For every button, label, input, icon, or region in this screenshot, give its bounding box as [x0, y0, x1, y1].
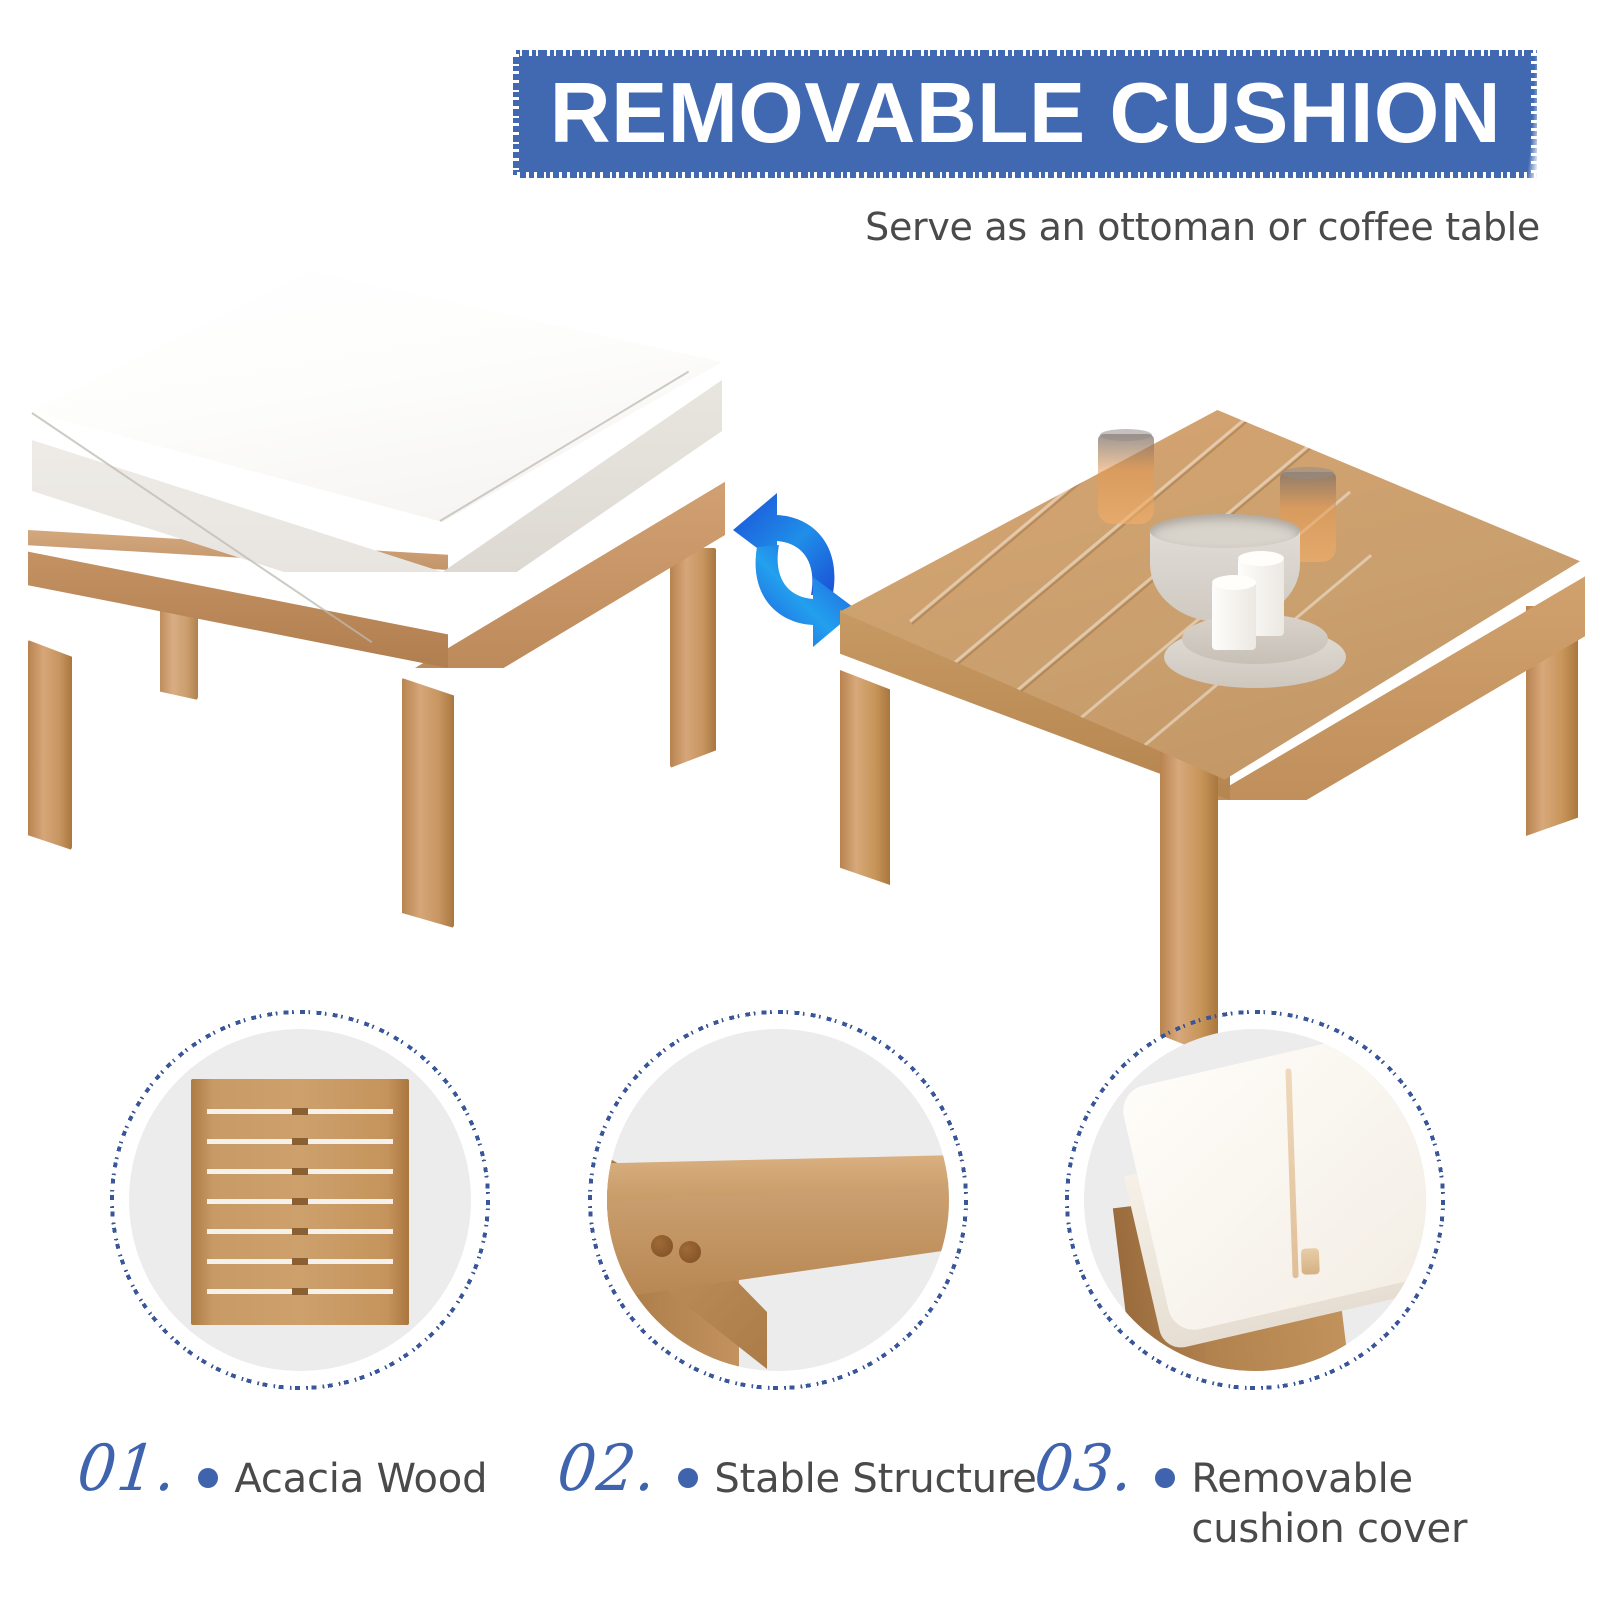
feature-number-2: 02.	[555, 1438, 660, 1499]
amber-glass-left	[1098, 434, 1154, 524]
bullet-dot-2	[678, 1468, 698, 1488]
feature-text-2: Stable Structure	[714, 1454, 1036, 1504]
bolt-1	[651, 1235, 673, 1257]
bullet-dot-3	[1155, 1468, 1175, 1488]
table-leg-left	[840, 670, 890, 885]
page-title: REMOVABLE CUSHION	[549, 65, 1500, 163]
feature-number-3: 03.	[1032, 1438, 1137, 1499]
feature-number-1: 01.	[75, 1438, 180, 1499]
infographic-page: REMOVABLE CUSHION Serve as an ottoman or…	[0, 0, 1600, 1600]
bolt-2	[679, 1241, 701, 1263]
stable-structure-photo	[607, 1029, 949, 1371]
ottoman-cushion	[32, 272, 722, 572]
ottoman-product-image	[10, 260, 730, 940]
banner-left-edge	[512, 50, 519, 178]
feature-label-1: 01. Acacia Wood	[78, 1440, 487, 1504]
banner-right-edge	[1531, 50, 1538, 178]
feature-circle-1	[105, 1005, 495, 1395]
header-banner: REMOVABLE CUSHION	[513, 50, 1537, 178]
bullet-dot-1	[198, 1468, 218, 1488]
hero-section	[0, 250, 1600, 950]
feature-circle-3	[1060, 1005, 1450, 1395]
feature-label-3: 03. Removable cushion cover	[1035, 1440, 1467, 1554]
ottoman-leg-front-center	[402, 678, 454, 928]
feature-label-2: 02. Stable Structure	[558, 1440, 1037, 1504]
zipper-pull	[1301, 1248, 1320, 1275]
feature-circle-2	[583, 1005, 973, 1395]
cushion-seam	[32, 272, 722, 572]
feature-text-3: Removable cushion cover	[1191, 1454, 1467, 1554]
feature-labels-section: 01. Acacia Wood 02. Stable Structure 03.…	[0, 1440, 1600, 1600]
zipper-track	[1285, 1068, 1298, 1278]
ottoman-leg-front-left	[28, 640, 72, 850]
subtitle: Serve as an ottoman or coffee table	[865, 205, 1540, 249]
ottoman-leg-back-right	[670, 548, 716, 768]
acacia-wood-photo	[129, 1029, 471, 1371]
removable-cover-photo	[1084, 1029, 1426, 1371]
feature-text-1: Acacia Wood	[234, 1454, 487, 1504]
feature-circles-section	[0, 1005, 1600, 1425]
candle-front	[1212, 582, 1256, 650]
slatted-tabletop	[191, 1079, 409, 1325]
